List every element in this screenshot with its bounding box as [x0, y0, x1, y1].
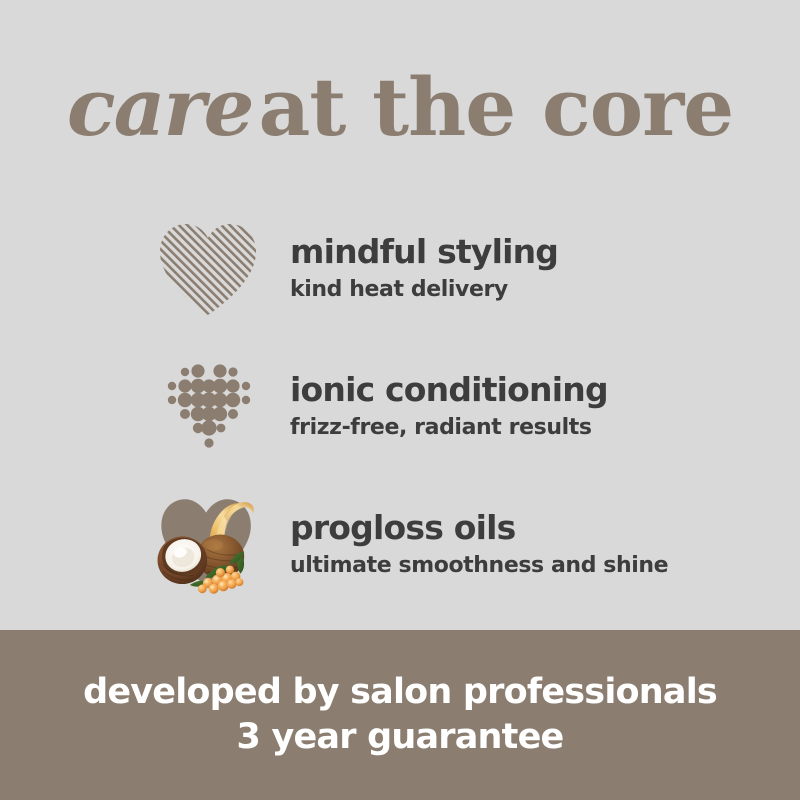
feature-title: mindful styling	[290, 234, 558, 271]
feature-list: mindful styling kind heat delivery	[0, 200, 800, 630]
headline-word-care: care	[67, 60, 259, 154]
banner-line-2: 3 year guarantee	[237, 715, 564, 760]
feature-row: mindful styling kind heat delivery	[148, 200, 800, 338]
page-title: careat the core	[67, 67, 733, 147]
feature-row: ionic conditioning frizz-free, radiant r…	[148, 338, 800, 476]
banner-line-1: developed by salon professionals	[83, 670, 717, 715]
feature-title: ionic conditioning	[290, 372, 608, 409]
poster-root: careat the core mindful styling	[0, 0, 800, 800]
feature-text-block: ionic conditioning frizz-free, radiant r…	[268, 372, 608, 441]
headline-word-rest: at the core	[258, 60, 733, 154]
feature-row: progloss oils ultimate smoothness and sh…	[148, 476, 800, 614]
bottom-banner: developed by salon professionals 3 year …	[0, 630, 800, 800]
feature-title: progloss oils	[290, 510, 668, 547]
feature-subtitle: frizz-free, radiant results	[290, 415, 608, 441]
feature-subtitle: kind heat delivery	[290, 277, 558, 303]
feature-subtitle: ultimate smoothness and shine	[290, 553, 668, 579]
feature-text-block: progloss oils ultimate smoothness and sh…	[268, 510, 668, 579]
oils-heart-icon	[148, 486, 268, 604]
feature-text-block: mindful styling kind heat delivery	[268, 234, 558, 303]
headline-container: careat the core	[0, 0, 800, 200]
dotted-heart-icon	[148, 348, 268, 466]
striped-heart-icon	[148, 210, 268, 328]
